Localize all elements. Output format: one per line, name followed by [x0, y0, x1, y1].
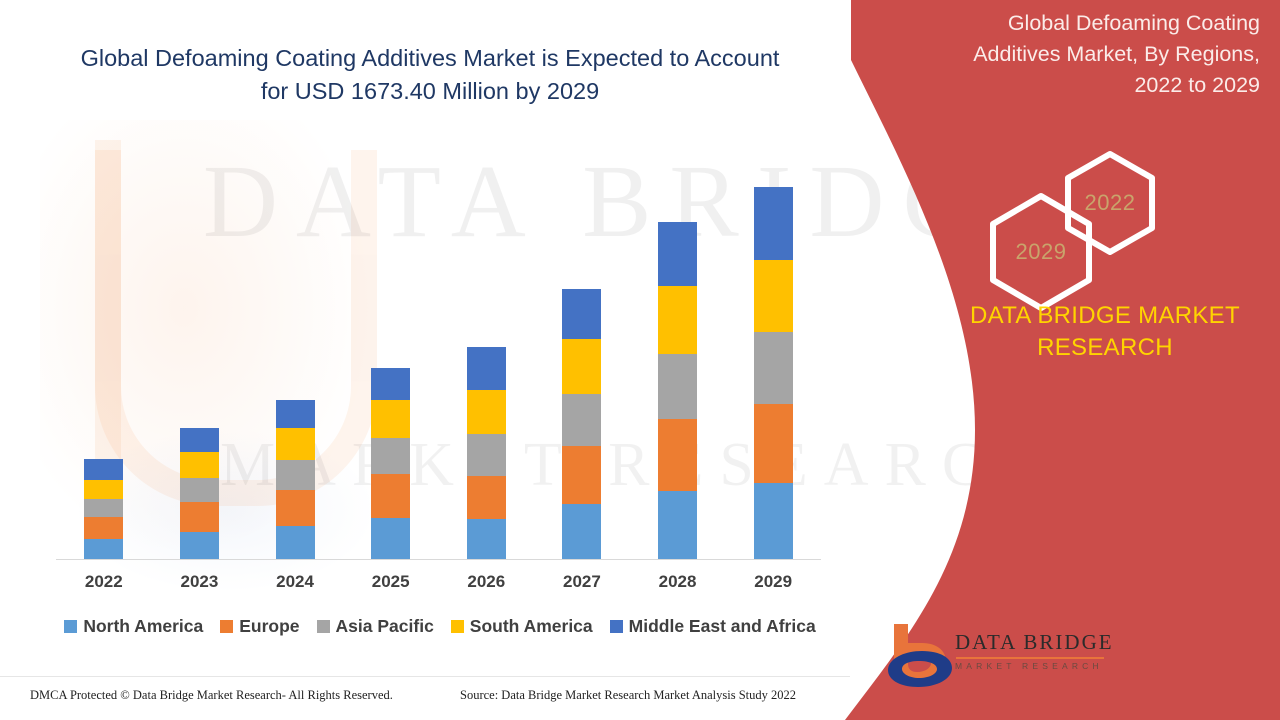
- stacked-bar: [562, 289, 601, 559]
- hex-badges: 2022 2029: [980, 150, 1200, 295]
- panel-content: Global Defoaming Coating Additives Marke…: [960, 0, 1280, 720]
- legend-swatch-icon: [64, 620, 77, 633]
- footer-divider: [0, 676, 850, 677]
- bar-segment: [371, 368, 410, 400]
- logo-subtitle: MARKET RESEARCH: [955, 662, 1114, 671]
- bar-segment: [562, 446, 601, 504]
- bar-column: [630, 130, 726, 559]
- infographic-root: { "title": "Global Defoaming Coating Add…: [0, 0, 1280, 720]
- chart-legend: North AmericaEuropeAsia PacificSouth Ame…: [56, 616, 824, 637]
- logo-wordmark: DATA BRIDGE MARKET RESEARCH: [955, 632, 1114, 670]
- legend-item[interactable]: Europe: [220, 616, 299, 637]
- bar-segment: [276, 400, 315, 428]
- bar-column: [56, 130, 152, 559]
- bar-segment: [180, 502, 219, 532]
- bar-segment: [467, 347, 506, 390]
- hex-badge-2029: 2029: [986, 192, 1096, 312]
- x-axis-label: 2025: [343, 572, 439, 592]
- x-axis-label: 2028: [630, 572, 726, 592]
- bar-segment: [658, 491, 697, 559]
- legend-item[interactable]: North America: [64, 616, 203, 637]
- legend-label: North America: [83, 616, 203, 637]
- bar-segment: [658, 419, 697, 491]
- bar-segment: [467, 434, 506, 476]
- bar-segment: [467, 390, 506, 434]
- bar-segment: [84, 480, 123, 499]
- bar-segment: [754, 483, 793, 559]
- bar-segment: [467, 476, 506, 519]
- data-bridge-logo: DATA BRIDGE MARKET RESEARCH: [880, 618, 1140, 698]
- bar-column: [247, 130, 343, 559]
- stacked-bar: [276, 400, 315, 559]
- bar-segment: [276, 460, 315, 490]
- bar-segment: [371, 518, 410, 559]
- bar-segment: [371, 400, 410, 438]
- bar-segment: [467, 519, 506, 559]
- footer-bar: DMCA Protected © Data Bridge Market Rese…: [0, 676, 850, 720]
- stacked-bar: [754, 187, 793, 559]
- x-axis-line: [56, 559, 821, 560]
- bar-segment: [84, 517, 123, 539]
- legend-swatch-icon: [220, 620, 233, 633]
- bar-column: [343, 130, 439, 559]
- page-title: Global Defoaming Coating Additives Marke…: [70, 42, 790, 109]
- stacked-bar: [84, 459, 123, 559]
- bar-segment: [658, 286, 697, 354]
- bar-column: [534, 130, 630, 559]
- bar-chart: [56, 130, 821, 560]
- bar-column: [725, 130, 821, 559]
- bar-segment: [276, 526, 315, 559]
- x-axis-label: 2029: [725, 572, 821, 592]
- brand-heading: DATA BRIDGE MARKET RESEARCH: [955, 300, 1255, 365]
- stacked-bar: [658, 222, 697, 559]
- legend-item[interactable]: South America: [451, 616, 593, 637]
- bar-column: [439, 130, 535, 559]
- footer-source: Source: Data Bridge Market Research Mark…: [460, 688, 796, 703]
- legend-label: Europe: [239, 616, 299, 637]
- footer-copyright: DMCA Protected © Data Bridge Market Rese…: [30, 688, 393, 703]
- legend-label: Middle East and Africa: [629, 616, 816, 637]
- bar-segment: [562, 289, 601, 339]
- x-axis-label: 2022: [56, 572, 152, 592]
- bar-group: [56, 130, 821, 559]
- bar-segment: [180, 532, 219, 559]
- x-axis-label: 2023: [152, 572, 248, 592]
- bar-segment: [180, 452, 219, 478]
- bar-segment: [658, 354, 697, 419]
- legend-swatch-icon: [317, 620, 330, 633]
- bar-segment: [276, 428, 315, 460]
- bar-segment: [180, 428, 219, 452]
- logo-name: DATA BRIDGE: [955, 632, 1114, 653]
- bar-column: [152, 130, 248, 559]
- bar-segment: [371, 474, 410, 518]
- stacked-bar: [467, 347, 506, 559]
- panel-title: Global Defoaming Coating Additives Marke…: [960, 8, 1260, 102]
- bar-segment: [84, 459, 123, 480]
- logo-mark-icon: [880, 618, 960, 690]
- bar-segment: [371, 438, 410, 474]
- stacked-bar: [180, 428, 219, 559]
- logo-rule: [956, 657, 1104, 659]
- bar-segment: [754, 260, 793, 332]
- x-axis-label: 2027: [534, 572, 630, 592]
- bar-segment: [754, 187, 793, 260]
- bar-segment: [658, 222, 697, 286]
- bar-segment: [562, 339, 601, 394]
- legend-label: South America: [470, 616, 593, 637]
- bar-segment: [180, 478, 219, 502]
- bar-segment: [562, 394, 601, 446]
- legend-swatch-icon: [451, 620, 464, 633]
- x-axis-label: 2024: [247, 572, 343, 592]
- stacked-bar: [371, 368, 410, 559]
- hex-badge-2029-label: 2029: [1016, 239, 1067, 265]
- bar-segment: [84, 539, 123, 559]
- x-axis-label: 2026: [439, 572, 535, 592]
- bar-segment: [276, 490, 315, 526]
- bar-segment: [754, 404, 793, 483]
- x-axis-labels: 20222023202420252026202720282029: [56, 572, 821, 592]
- legend-item[interactable]: Middle East and Africa: [610, 616, 816, 637]
- bar-segment: [84, 499, 123, 517]
- bar-segment: [754, 332, 793, 404]
- legend-item[interactable]: Asia Pacific: [317, 616, 434, 637]
- legend-label: Asia Pacific: [336, 616, 434, 637]
- bar-segment: [562, 504, 601, 559]
- legend-swatch-icon: [610, 620, 623, 633]
